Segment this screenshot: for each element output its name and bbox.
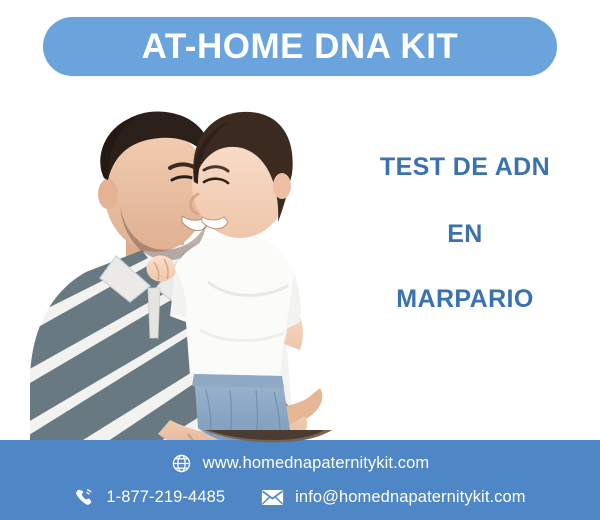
footer-contact-bar: www.homednapaternitykit.com 1-877-219-44… — [0, 440, 600, 520]
envelope-icon — [261, 486, 284, 509]
photo-stage — [8, 82, 336, 450]
family-portrait-photo — [8, 82, 336, 450]
headline-block: TEST DE ADN EN MARPARIO — [340, 155, 590, 312]
headline-line-1: TEST DE ADN — [340, 155, 590, 180]
phone-text: 1-877-219-4485 — [106, 488, 225, 507]
headline-line-3: MARPARIO — [340, 287, 590, 312]
footer-website-row: www.homednapaternitykit.com — [0, 453, 600, 474]
header-banner: AT-HOME DNA KIT — [43, 17, 557, 76]
phone-icon — [74, 487, 95, 508]
footer-contact-row: 1-877-219-4485 info@homednapaternitykit.… — [0, 486, 600, 509]
website-contact-item[interactable]: www.homednapaternitykit.com — [171, 453, 429, 474]
page-title: AT-HOME DNA KIT — [142, 29, 459, 64]
phone-contact-item[interactable]: 1-877-219-4485 — [74, 487, 225, 508]
headline-line-2: EN — [340, 222, 590, 247]
family-portrait-illustration — [8, 82, 336, 468]
globe-icon — [171, 453, 192, 474]
email-contact-item[interactable]: info@homednapaternitykit.com — [261, 486, 526, 509]
email-text: info@homednapaternitykit.com — [295, 488, 526, 507]
poster-canvas: AT-HOME DNA KIT — [0, 0, 600, 520]
website-text: www.homednapaternitykit.com — [203, 454, 429, 473]
